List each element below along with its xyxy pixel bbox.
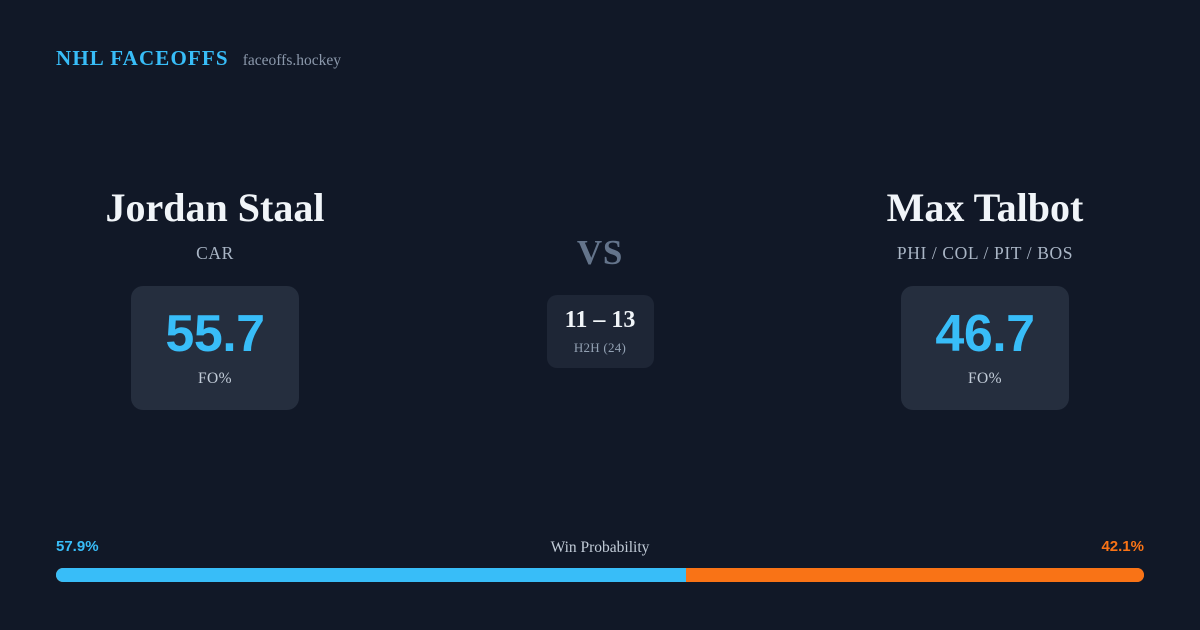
head-to-head-caption: H2H (24)	[574, 340, 626, 356]
right-player-faceoff-pct: 46.7	[935, 308, 1034, 360]
win-probability-right-value: 42.1%	[1101, 538, 1144, 555]
left-player-faceoff-pct: 55.7	[165, 308, 264, 360]
win-probability-labels: 57.9% Win Probability 42.1%	[56, 538, 1144, 560]
versus-panel: VS 11 – 13 H2H (24)	[430, 185, 770, 368]
left-player-name: Jordan Staal	[106, 185, 325, 231]
win-probability-title: Win Probability	[56, 539, 1144, 557]
right-player-stat-card: 46.7 FO%	[901, 286, 1069, 410]
win-probability-bar	[56, 568, 1144, 582]
right-player-teams: PHI / COL / PIT / BOS	[897, 243, 1073, 264]
win-probability-left-fill	[56, 568, 686, 582]
win-probability-section: 57.9% Win Probability 42.1%	[56, 538, 1144, 582]
brand-title: NHL FACEOFFS	[56, 46, 229, 71]
brand-header: NHL FACEOFFS faceoffs.hockey	[56, 46, 341, 71]
left-player-stat-label: FO%	[198, 370, 232, 388]
win-probability-right-fill	[686, 568, 1144, 582]
left-player-teams: CAR	[196, 243, 234, 264]
versus-label: VS	[577, 235, 623, 270]
brand-domain: faceoffs.hockey	[243, 52, 341, 70]
right-player-panel: Max Talbot PHI / COL / PIT / BOS 46.7 FO…	[770, 185, 1200, 410]
matchup-section: Jordan Staal CAR 55.7 FO% VS 11 – 13 H2H…	[0, 185, 1200, 410]
right-player-name: Max Talbot	[887, 185, 1084, 231]
right-player-stat-label: FO%	[968, 370, 1002, 388]
head-to-head-box: 11 – 13 H2H (24)	[547, 295, 654, 368]
head-to-head-record: 11 – 13	[565, 308, 636, 332]
left-player-panel: Jordan Staal CAR 55.7 FO%	[0, 185, 430, 410]
share-card: NHL FACEOFFS faceoffs.hockey Jordan Staa…	[0, 0, 1200, 630]
left-player-stat-card: 55.7 FO%	[131, 286, 299, 410]
